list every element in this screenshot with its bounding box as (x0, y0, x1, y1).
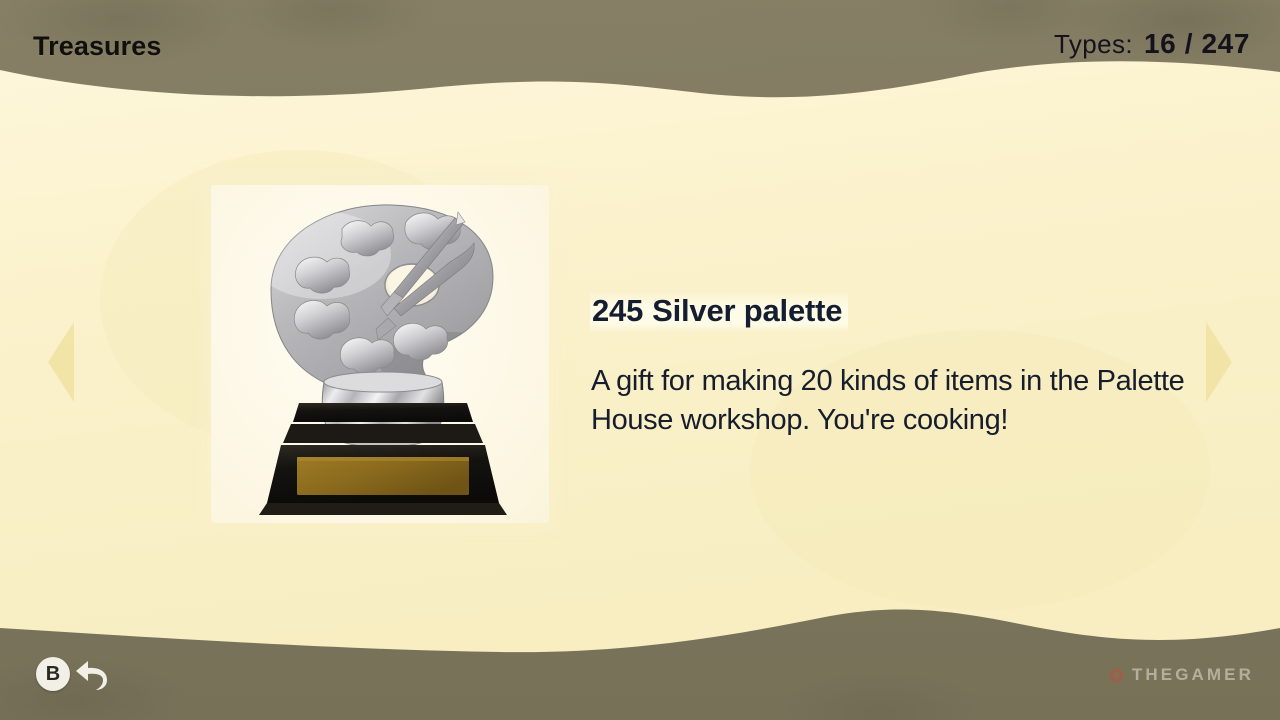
content-sheet (0, 0, 1280, 720)
types-label: Types: (1054, 29, 1133, 60)
item-image-panel (211, 185, 549, 523)
item-description: A gift for making 20 kinds of items in t… (591, 362, 1191, 440)
triangle-left-icon (40, 318, 78, 406)
back-arrow-icon (74, 656, 114, 692)
button-b-icon[interactable]: B (36, 657, 70, 691)
types-value: 16 / 247 (1144, 28, 1250, 60)
item-number: 245 (592, 293, 643, 328)
back-hint[interactable]: B (36, 656, 114, 692)
thegamer-logo-icon (1110, 668, 1123, 683)
next-item-arrow[interactable] (1202, 318, 1240, 406)
triangle-right-icon (1202, 318, 1240, 406)
trophy-nameplate (297, 457, 469, 495)
watermark: THEGAMER (1110, 665, 1254, 685)
page-title: Treasures (33, 31, 162, 62)
item-name: Silver palette (652, 293, 842, 328)
watermark-text: THEGAMER (1132, 665, 1254, 685)
trophy-plinth (259, 403, 507, 515)
silver-palette-trophy-image (211, 185, 549, 523)
item-title: 245Silver palette (590, 291, 848, 333)
previous-item-arrow[interactable] (40, 318, 78, 406)
types-counter: Types: 16 / 247 (1054, 28, 1250, 60)
